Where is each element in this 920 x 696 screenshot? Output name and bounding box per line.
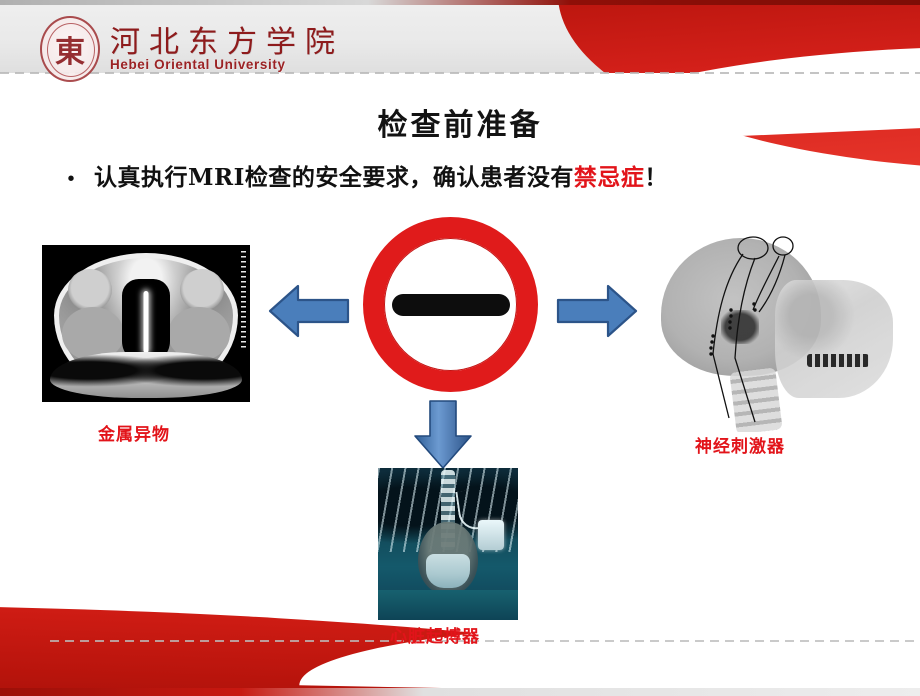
ct-orbit-left bbox=[68, 269, 112, 311]
bullet-row: • 认真执行MRI检查的安全要求，确认患者没有禁忌症！ bbox=[56, 158, 876, 192]
arrow-down-icon bbox=[412, 398, 474, 470]
footer-base-line bbox=[0, 688, 920, 696]
pacemaker-generator bbox=[478, 520, 504, 550]
university-logo: 河北东方学院 Hebei Oriental University bbox=[40, 16, 344, 82]
skull-xray-stimulator-image bbox=[655, 232, 907, 432]
chest-xray-pacemaker-image bbox=[378, 468, 518, 620]
no-entry-sign-icon bbox=[363, 217, 538, 392]
university-name-cn: 河北东方学院 bbox=[110, 26, 344, 60]
arrow-right-icon bbox=[556, 283, 638, 339]
ct-orbit-right bbox=[180, 269, 224, 311]
bullet-marker: • bbox=[56, 169, 86, 189]
bullet-text-end: ！ bbox=[644, 164, 668, 191]
caption-nerve-stimulator: 神经刺激器 bbox=[695, 432, 785, 457]
dashed-divider-bottom bbox=[50, 640, 920, 642]
university-seal-icon bbox=[40, 16, 100, 82]
ct-scale-ruler bbox=[241, 251, 246, 351]
caption-metal-foreign-body: 金属异物 bbox=[98, 420, 170, 445]
page-title: 检查前准备 bbox=[0, 100, 920, 144]
ct-metal-foreign-body bbox=[144, 291, 149, 353]
university-name-block: 河北东方学院 Hebei Oriental University bbox=[110, 26, 344, 73]
caption-cardiac-pacemaker: 心脏起搏器 bbox=[390, 622, 480, 647]
pacemaker-surgeon-scrubs bbox=[378, 590, 518, 620]
university-name-en: Hebei Oriental University bbox=[110, 57, 344, 72]
xray-stimulator-leads bbox=[655, 232, 907, 432]
slide-canvas: 河北东方学院 Hebei Oriental University 检查前准备 •… bbox=[0, 0, 920, 696]
no-entry-bar bbox=[392, 294, 510, 316]
bullet-text-main: 认真执行MRI检查的安全要求，确认患者没有 bbox=[94, 164, 574, 191]
pacemaker-surgical-mask bbox=[426, 554, 470, 588]
arrow-left-icon bbox=[268, 283, 350, 339]
bullet-text-warning: 禁忌症 bbox=[574, 164, 645, 191]
ct-scan-image bbox=[42, 245, 250, 402]
ct-skull-base bbox=[50, 352, 242, 398]
header-top-line bbox=[0, 0, 920, 5]
bullet-text: 认真执行MRI检查的安全要求，确认患者没有禁忌症！ bbox=[94, 158, 668, 192]
